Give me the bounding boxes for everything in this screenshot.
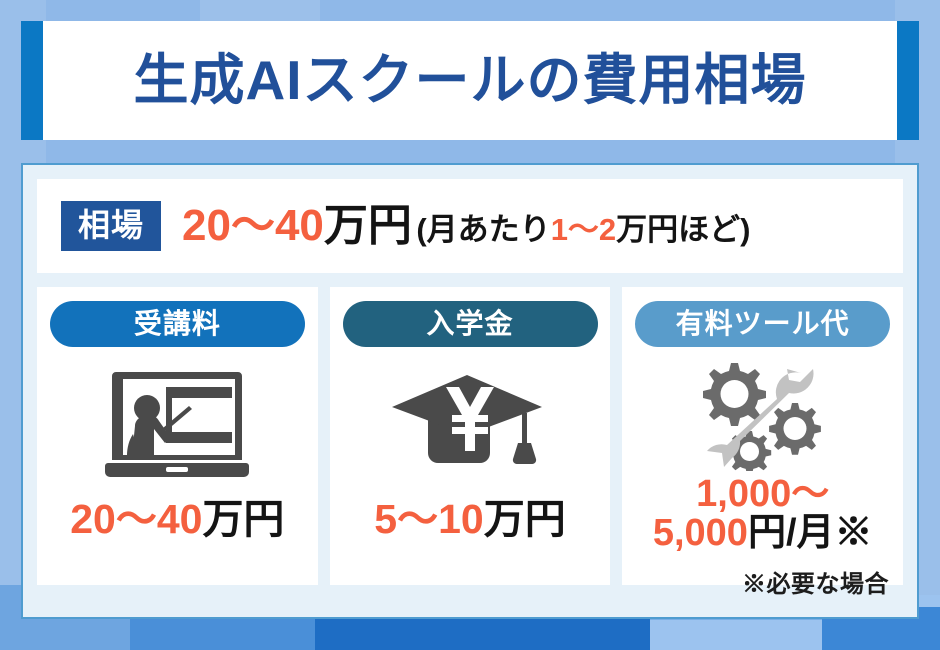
summary-price-value: 20〜40万円 (月あたり1〜2万円ほど) [182,204,750,248]
laptop-lecture-icon [102,367,252,485]
card-label-tools: 有料ツール代 [635,301,890,347]
summary-note-open: (月あたり [416,212,550,247]
price-range: 5〜10 [374,496,483,542]
graduation-cap-yen-icon [390,367,550,485]
summary-note-range: 1〜2 [551,212,616,247]
card-price-tuition: 20〜40万円 [70,499,284,541]
card-price-tools: 1,000〜 5,000円/月※ [653,475,873,553]
page-title: 生成AIスクールの費用相場 [133,53,806,108]
gears-wrench-icon [683,359,843,471]
price-line-2: 5,000円/月※ [653,514,873,553]
footnote: ※必要な場合 [742,564,889,599]
status-badge: 相場 [61,201,161,251]
price-summary-row: 相場 20〜40万円 (月あたり1〜2万円ほど) [37,179,903,273]
summary-note-close: 万円ほど) [616,212,750,247]
summary-range: 20〜40 [182,201,324,250]
main-panel: 相場 20〜40万円 (月あたり1〜2万円ほど) 受講料 [21,163,919,619]
title-banner: 生成AIスクールの費用相場 [21,21,919,140]
cost-card-admission: 入学金 [330,287,611,585]
cost-card-tuition: 受講料 [37,287,318,585]
cost-cards: 受講料 [37,287,903,585]
background-block [650,620,822,650]
price-range-start: 1,000〜 [696,473,829,515]
infographic-poster: 生成AIスクールの費用相場 相場 20〜40万円 (月あたり1〜2万円ほど) 受… [0,0,940,650]
price-unit: 万円 [202,496,284,542]
price-range-end: 5,000 [653,512,748,554]
card-label-admission: 入学金 [343,301,598,347]
cost-card-tools: 有料ツール代 [622,287,903,585]
price-range: 20〜40 [70,496,202,542]
card-price-admission: 5〜10万円 [374,499,565,541]
price-line-1: 1,000〜 [653,475,873,514]
summary-unit: 万円 [324,201,412,250]
price-unit: 円/月※ [748,512,873,554]
price-unit: 万円 [484,496,566,542]
card-label-tuition: 受講料 [50,301,305,347]
